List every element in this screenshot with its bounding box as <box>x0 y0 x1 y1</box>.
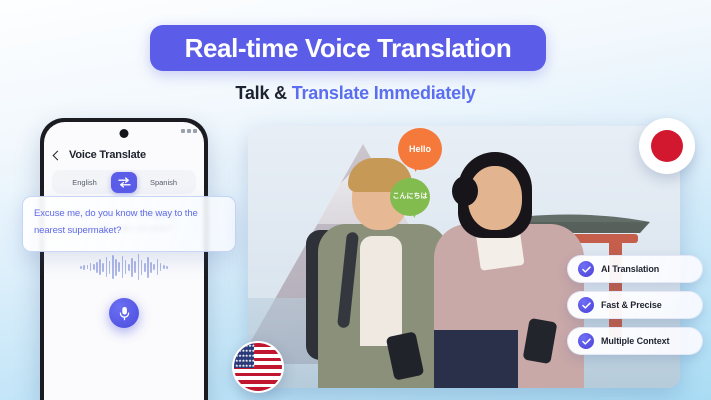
waveform-bar <box>90 263 92 271</box>
waveform-bar <box>122 256 124 278</box>
konnichiwa-bubble: こんにちは <box>390 178 430 216</box>
feature-fast-precise[interactable]: Fast & Precise <box>567 291 703 319</box>
subheadline-dark-part: Talk & <box>235 83 291 103</box>
waveform-bar <box>138 254 140 280</box>
usa-flag-canton: ★★★★★★★★★★★★★★★★★★★★★★★★★★★★★★ <box>234 343 254 368</box>
signal-icon <box>181 129 185 133</box>
waveform-bar <box>118 262 120 272</box>
japan-flag-icon <box>651 130 683 162</box>
status-bar <box>181 129 197 133</box>
phone-mockup: Voice Translate English Spanish Disculpe… <box>40 118 208 400</box>
feature-label: Multiple Context <box>601 336 669 346</box>
waveform-bar <box>125 260 127 274</box>
japan-flag-badge <box>639 118 695 174</box>
waveform-bar <box>166 266 168 269</box>
woman-hair-bun <box>452 176 478 206</box>
headline-banner: Real-time Voice Translation <box>150 25 546 71</box>
check-circle-icon <box>578 333 594 349</box>
waveform-bar <box>83 265 85 270</box>
waveform-bar <box>150 262 152 273</box>
battery-icon <box>193 129 197 133</box>
man-shirt <box>360 236 402 346</box>
waveform-bar <box>147 257 149 278</box>
check-circle-icon <box>578 261 594 277</box>
source-language-chip[interactable]: English <box>58 178 111 187</box>
waveform-bar <box>109 261 111 274</box>
subheadline: Talk & Translate Immediately <box>0 83 711 104</box>
swap-arrows-icon[interactable] <box>111 172 137 193</box>
hello-bubble-text: Hello <box>409 144 431 154</box>
headline-text: Real-time Voice Translation <box>185 33 512 64</box>
waveform-bar <box>144 263 146 272</box>
feature-label: AI Translation <box>601 264 659 274</box>
microphone-icon[interactable] <box>109 298 139 328</box>
source-phrase-card: Excuse me, do you know the way to the ne… <box>22 196 236 252</box>
feature-label: Fast & Precise <box>601 300 662 310</box>
waveform-bar <box>96 262 98 273</box>
front-camera-icon <box>120 129 129 138</box>
feature-ai-translation[interactable]: AI Translation <box>567 255 703 283</box>
waveform-bar <box>163 265 165 269</box>
waveform-bar <box>128 264 130 271</box>
waveform-bar <box>102 263 104 272</box>
feature-multiple-context[interactable]: Multiple Context <box>567 327 703 355</box>
flag-star: ★ <box>252 364 256 368</box>
audio-waveform <box>58 250 190 284</box>
app-title: Voice Translate <box>69 149 146 161</box>
waveform-bar <box>112 255 114 279</box>
waveform-bar <box>131 258 133 277</box>
usa-flag-badge: ★★★★★★★★★★★★★★★★★★★★★★★★★★★★★★ <box>232 341 284 393</box>
feature-badge-list: AI Translation Fast & Precise Multiple C… <box>567 255 703 355</box>
app-nav-bar: Voice Translate <box>44 144 204 166</box>
waveform-bar <box>157 259 159 275</box>
target-language-chip[interactable]: Spanish <box>137 178 190 187</box>
promo-banner-stage: Real-time Voice Translation Talk & Trans… <box>0 0 711 400</box>
kimono-obi <box>434 330 518 388</box>
waveform-bar <box>80 266 82 269</box>
waveform-bar <box>99 259 101 275</box>
waveform-bar <box>153 264 155 270</box>
language-selector: English Spanish <box>52 170 196 194</box>
waveform-bar <box>106 257 108 277</box>
waveform-bar <box>141 260 143 275</box>
waveform-bar <box>93 264 95 270</box>
waveform-bar <box>160 263 162 271</box>
waveform-bar <box>134 261 136 273</box>
waveform-bar <box>115 259 117 276</box>
wifi-icon <box>187 129 191 133</box>
subheadline-accent-part: Translate Immediately <box>292 83 476 103</box>
hello-bubble: Hello <box>398 128 442 170</box>
chevron-left-icon[interactable] <box>53 150 63 160</box>
waveform-bar <box>87 265 89 269</box>
phone-screen: Voice Translate English Spanish Disculpe… <box>44 122 204 400</box>
konnichiwa-bubble-text: こんにちは <box>393 193 428 202</box>
check-circle-icon <box>578 297 594 313</box>
source-phrase-text: Excuse me, do you know the way to the ne… <box>34 206 224 239</box>
